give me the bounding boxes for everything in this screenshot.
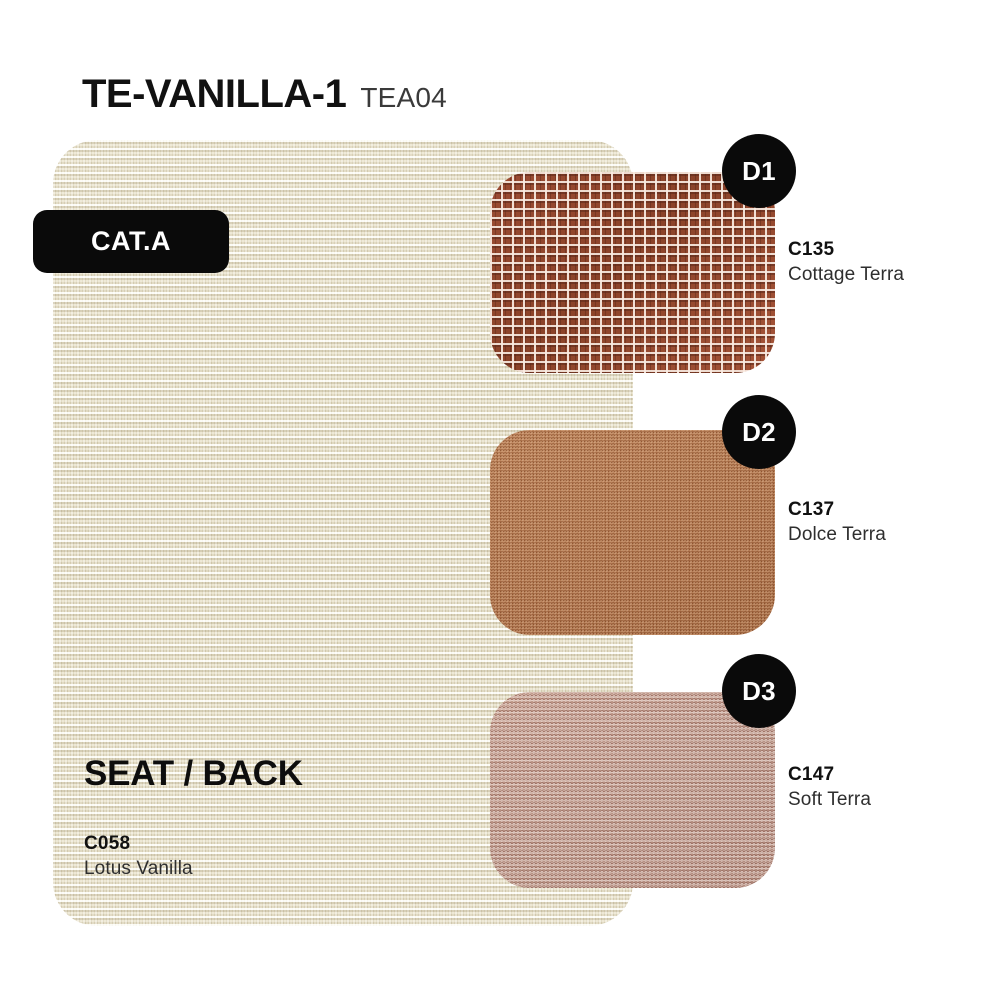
category-badge-label: CAT.A [91,226,171,257]
option-code-d3: C147 [788,762,988,787]
fabric-swatch-d1-cottage-terra[interactable] [490,172,775,373]
option-code-d1: C135 [788,237,988,262]
option-name-d3: Soft Terra [788,787,988,812]
fabric-swatch-d3-soft-terra[interactable] [490,692,775,888]
option-code-d2: C137 [788,497,988,522]
page-title-code: TEA04 [360,84,447,112]
main-fabric-code: C058 [84,831,303,856]
option-name-d1: Cottage Terra [788,262,988,287]
option-label-d2: C137 Dolce Terra [788,497,988,547]
fabric-swatch-d2-dolce-terra[interactable] [490,430,775,635]
option-name-d2: Dolce Terra [788,522,988,547]
page-title: TE-VANILLA-1 [82,74,346,114]
option-label-d3: C147 Soft Terra [788,762,988,812]
option-label-d1: C135 Cottage Terra [788,237,988,287]
page-title-header: TE-VANILLA-1 TEA04 [82,74,447,114]
main-fabric-name: Lotus Vanilla [84,856,303,881]
option-badge-d2: D2 [722,395,796,469]
main-fabric-caption: SEAT / BACK C058 Lotus Vanilla [84,756,303,881]
section-title-seat-back: SEAT / BACK [84,756,303,793]
category-badge: CAT.A [33,210,229,273]
option-badge-d1: D1 [722,134,796,208]
option-badge-d3: D3 [722,654,796,728]
